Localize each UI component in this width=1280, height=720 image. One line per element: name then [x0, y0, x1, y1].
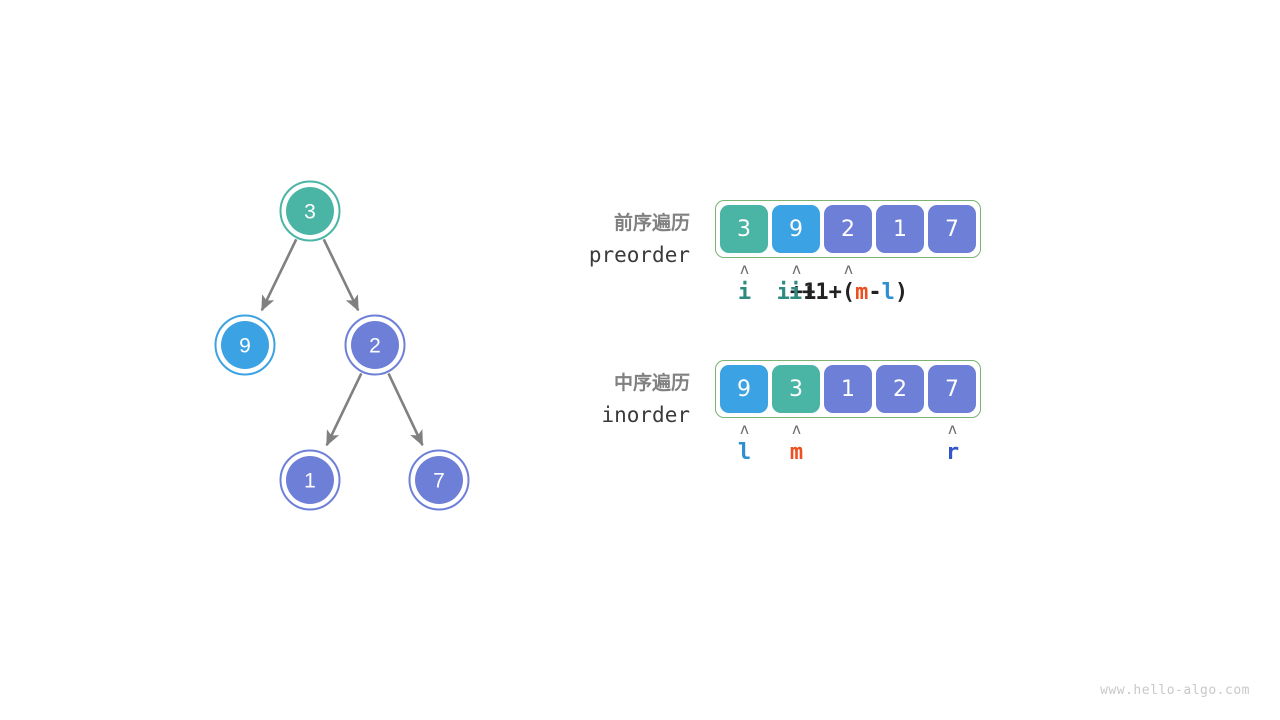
preorder-cell-3[interactable]: 1	[876, 205, 924, 253]
tree-node-2[interactable]: 2	[346, 316, 405, 375]
binary-tree-graphic: 39217	[180, 160, 520, 540]
pointer-token: -	[868, 280, 881, 305]
preorder-array-wrap: 39217 ʌiʌi+1ʌi+1+(m-l)	[715, 200, 991, 320]
tree-nodes: 39217	[216, 182, 469, 510]
pointer-token: i	[738, 280, 751, 305]
inorder-cell-3[interactable]: 2	[876, 365, 924, 413]
preorder-label-en: preorder	[540, 238, 690, 272]
tree-edge	[388, 373, 422, 445]
tree-node-label: 3	[304, 201, 316, 224]
tree-node-9[interactable]: 9	[216, 316, 275, 375]
preorder-cell-1[interactable]: 9	[772, 205, 820, 253]
preorder-cell-0[interactable]: 3	[720, 205, 768, 253]
preorder-label-cn: 前序遍历	[540, 208, 690, 238]
inorder-cell-2[interactable]: 1	[824, 365, 872, 413]
tree-edge	[327, 373, 362, 445]
inorder-array-wrap: 93127 ʌlʌmʌr	[715, 360, 991, 480]
pointer-token: l	[738, 440, 751, 465]
pointer-token: +1+(	[802, 280, 855, 305]
traversal-panel: 前序遍历 preorder 39217 ʌiʌi+1ʌi+1+(m-l) 中序遍…	[540, 200, 1020, 520]
inorder-label-cn: 中序遍历	[540, 368, 690, 398]
pointer-token: m	[855, 280, 868, 305]
tree-node-label: 7	[433, 470, 445, 493]
inorder-caret-2: ʌ	[948, 422, 957, 437]
tree-node-label: 2	[369, 335, 381, 358]
pointer-token: i	[789, 280, 802, 305]
preorder-array: 39217	[715, 200, 981, 258]
inorder-pointer-label-2: r	[946, 440, 959, 466]
pointer-token: )	[895, 280, 908, 305]
tree-node-3[interactable]: 3	[281, 182, 340, 241]
preorder-cell-4[interactable]: 7	[928, 205, 976, 253]
inorder-row: 中序遍历 inorder 93127 ʌlʌmʌr	[540, 360, 1020, 520]
watermark: www.hello-algo.com	[1100, 683, 1250, 698]
inorder-pointer-label-1: m	[790, 440, 803, 466]
diagram-canvas: 39217 前序遍历 preorder 39217 ʌiʌi+1ʌi+1+(m-…	[0, 0, 1280, 720]
preorder-labels: 前序遍历 preorder	[540, 208, 690, 272]
inorder-caret-0: ʌ	[740, 422, 749, 437]
inorder-cell-0[interactable]: 9	[720, 365, 768, 413]
preorder-pointer-label-0: i	[738, 280, 751, 306]
preorder-caret-1: ʌ	[792, 262, 801, 277]
inorder-cell-1[interactable]: 3	[772, 365, 820, 413]
tree-edge	[324, 239, 358, 310]
inorder-pointers: ʌlʌmʌr	[715, 418, 991, 480]
preorder-cell-2[interactable]: 2	[824, 205, 872, 253]
tree-node-7[interactable]: 7	[410, 451, 469, 510]
preorder-caret-2: ʌ	[844, 262, 853, 277]
tree-node-label: 9	[239, 335, 251, 358]
pointer-token: r	[946, 440, 959, 465]
pointer-token: i	[777, 280, 790, 305]
preorder-row: 前序遍历 preorder 39217 ʌiʌi+1ʌi+1+(m-l)	[540, 200, 1020, 360]
preorder-pointers: ʌiʌi+1ʌi+1+(m-l)	[715, 258, 991, 320]
inorder-label-en: inorder	[540, 398, 690, 432]
preorder-pointer-label-2: i+1+(m-l)	[789, 280, 908, 306]
inorder-caret-1: ʌ	[792, 422, 801, 437]
inorder-pointer-label-0: l	[738, 440, 751, 466]
tree-edge	[262, 239, 296, 310]
inorder-cell-4[interactable]: 7	[928, 365, 976, 413]
pointer-token: m	[790, 440, 803, 465]
inorder-labels: 中序遍历 inorder	[540, 368, 690, 432]
inorder-array: 93127	[715, 360, 981, 418]
tree-node-1[interactable]: 1	[281, 451, 340, 510]
pointer-token: l	[882, 280, 895, 305]
preorder-caret-0: ʌ	[740, 262, 749, 277]
tree-node-label: 1	[304, 470, 316, 493]
